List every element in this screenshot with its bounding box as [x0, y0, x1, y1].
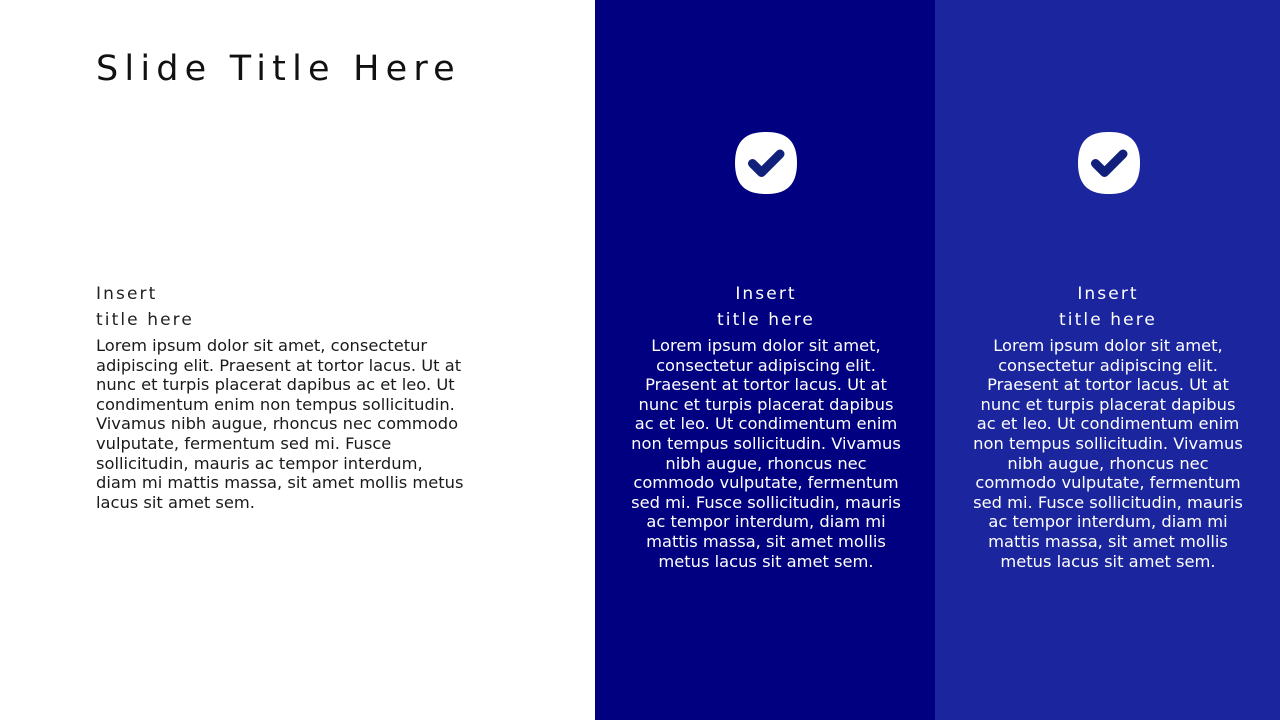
check-circle-icon-graphic [1078, 132, 1140, 194]
column-blue-body: Lorem ipsum dolor sit amet, consectetur … [972, 336, 1244, 571]
column-left-subtitle-line2: title here [96, 307, 468, 333]
column-navy-subtitle-line1: Insert [630, 281, 902, 307]
column-blue-subtitle-line1: Insert [972, 281, 1244, 307]
content-column-blue: Insert title here Lorem ipsum dolor sit … [972, 281, 1244, 571]
slide-title: Slide Title Here [96, 46, 461, 92]
column-left-body: Lorem ipsum dolor sit amet, consectetur … [96, 336, 468, 512]
column-blue-subtitle: Insert title here [972, 281, 1244, 333]
slide-canvas: Slide Title Here Insert title here Lorem… [0, 0, 1280, 720]
content-column-left: Insert title here Lorem ipsum dolor sit … [96, 281, 468, 512]
content-column-navy: Insert title here Lorem ipsum dolor sit … [630, 281, 902, 571]
check-circle-icon [735, 132, 797, 194]
column-navy-subtitle: Insert title here [630, 281, 902, 333]
column-left-subtitle: Insert title here [96, 281, 468, 333]
column-blue-subtitle-line2: title here [972, 307, 1244, 333]
column-left-subtitle-line1: Insert [96, 281, 468, 307]
column-navy-subtitle-line2: title here [630, 307, 902, 333]
column-navy-body: Lorem ipsum dolor sit amet, consectetur … [630, 336, 902, 571]
check-circle-icon-graphic [735, 132, 797, 194]
check-circle-icon [1078, 132, 1140, 194]
